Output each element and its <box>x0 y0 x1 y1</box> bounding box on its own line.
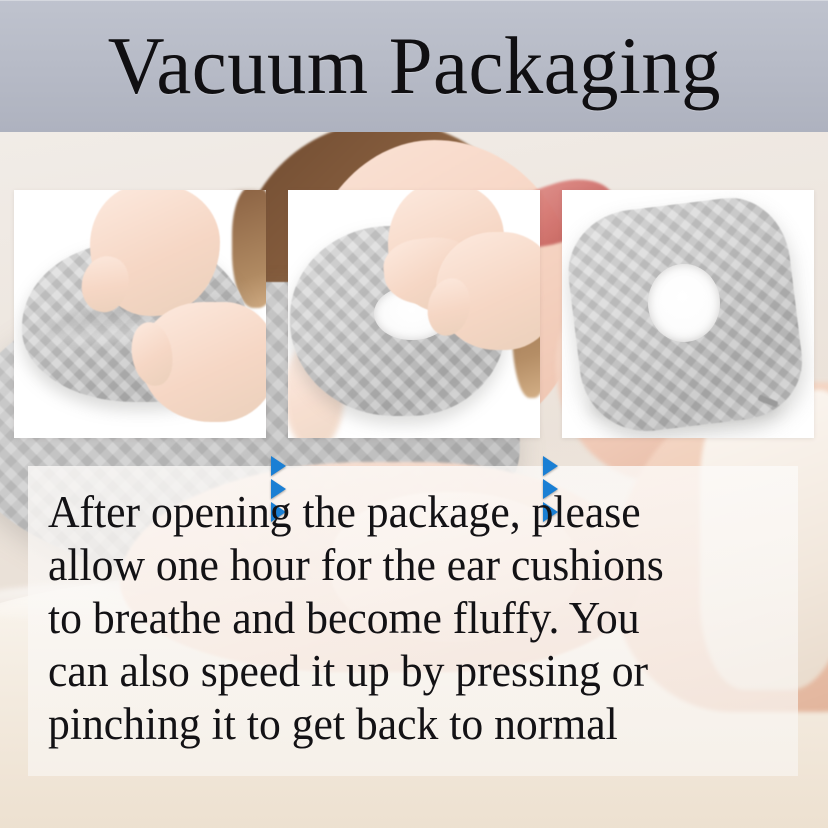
chevron-right-icon <box>543 456 558 476</box>
instruction-line: allow one hour for the ear cushions <box>48 539 785 592</box>
step-panel-1 <box>14 190 266 438</box>
instruction-text: After opening the package, please allow … <box>48 486 785 751</box>
photo3-center-hole <box>648 264 720 342</box>
page-title: Vacuum Packaging <box>107 25 720 107</box>
step-photo-2 <box>288 190 540 438</box>
header-band: Vacuum Packaging <box>0 0 828 132</box>
chevron-right-icon <box>271 456 286 476</box>
instruction-line: can also speed it up by pressing or <box>48 645 785 698</box>
instruction-line: to breathe and become fluffy. You <box>48 592 785 645</box>
step-panel-3 <box>562 190 814 438</box>
infographic-page: Vacuum Packaging <box>0 0 828 828</box>
instruction-line: pinching it to get back to normal <box>48 698 785 751</box>
instruction-line: After opening the package, please <box>48 486 785 539</box>
step-photo-1 <box>14 190 266 438</box>
step-panel-strip <box>0 190 828 438</box>
step-panel-2 <box>288 190 540 438</box>
step-photo-3 <box>562 190 814 438</box>
